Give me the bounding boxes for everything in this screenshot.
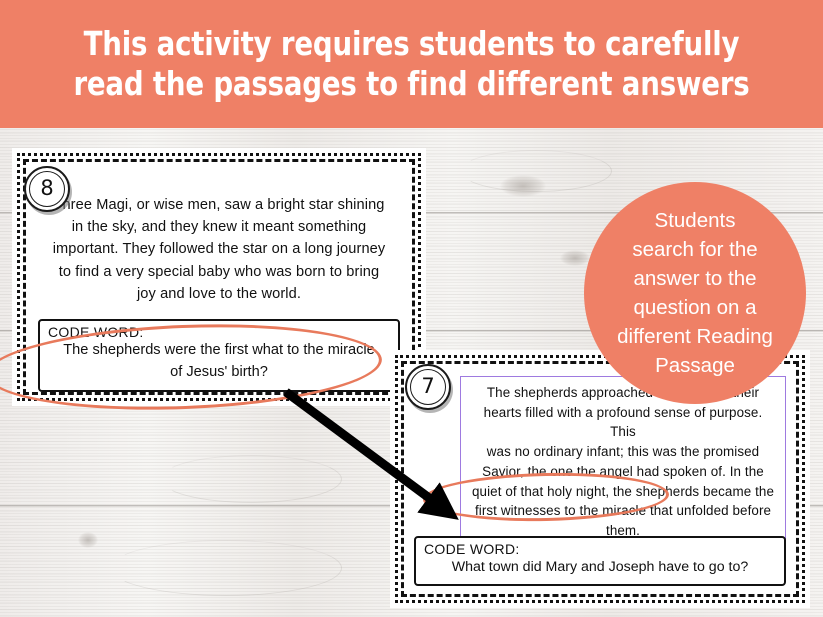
codeword-question: What town did Mary and Joseph have to go… bbox=[424, 557, 776, 578]
passage-box: The shepherds approached the manger, the… bbox=[460, 376, 786, 548]
card-number-label: 8 bbox=[40, 178, 53, 199]
header-banner: This activity requires students to caref… bbox=[0, 0, 823, 128]
card-number-badge-8: 8 bbox=[24, 166, 70, 212]
wood-grain-swirl bbox=[460, 150, 612, 192]
wood-grain-swirl bbox=[160, 455, 342, 503]
codeword-question: The shepherds were the first what to the… bbox=[48, 340, 390, 384]
card-content: Three Magi, or wise men, saw a bright st… bbox=[30, 166, 408, 388]
passage-box: Three Magi, or wise men, saw a bright st… bbox=[40, 188, 398, 311]
card-content: The shepherds approached the manger, the… bbox=[408, 368, 792, 590]
callout-circle: Students search for the answer to the qu… bbox=[584, 182, 806, 404]
passage-text: Three Magi, or wise men, saw a bright st… bbox=[50, 194, 388, 305]
codeword-label: CODE WORD: bbox=[48, 324, 390, 340]
codeword-box[interactable]: CODE WORD: What town did Mary and Joseph… bbox=[414, 536, 786, 586]
wood-knot bbox=[560, 250, 590, 266]
codeword-label: CODE WORD: bbox=[424, 541, 776, 557]
passage-text: The shepherds approached the manger, the… bbox=[471, 383, 775, 541]
wood-knot bbox=[78, 532, 98, 548]
task-card-8[interactable]: Three Magi, or wise men, saw a bright st… bbox=[12, 148, 426, 406]
page-title: This activity requires students to caref… bbox=[64, 24, 759, 105]
callout-text: Students search for the answer to the qu… bbox=[609, 206, 781, 381]
card-number-badge-7: 7 bbox=[405, 364, 451, 410]
wood-grain-swirl bbox=[110, 540, 342, 596]
card-number-label: 7 bbox=[421, 376, 434, 397]
codeword-box[interactable]: CODE WORD: The shepherds were the first … bbox=[38, 319, 400, 392]
